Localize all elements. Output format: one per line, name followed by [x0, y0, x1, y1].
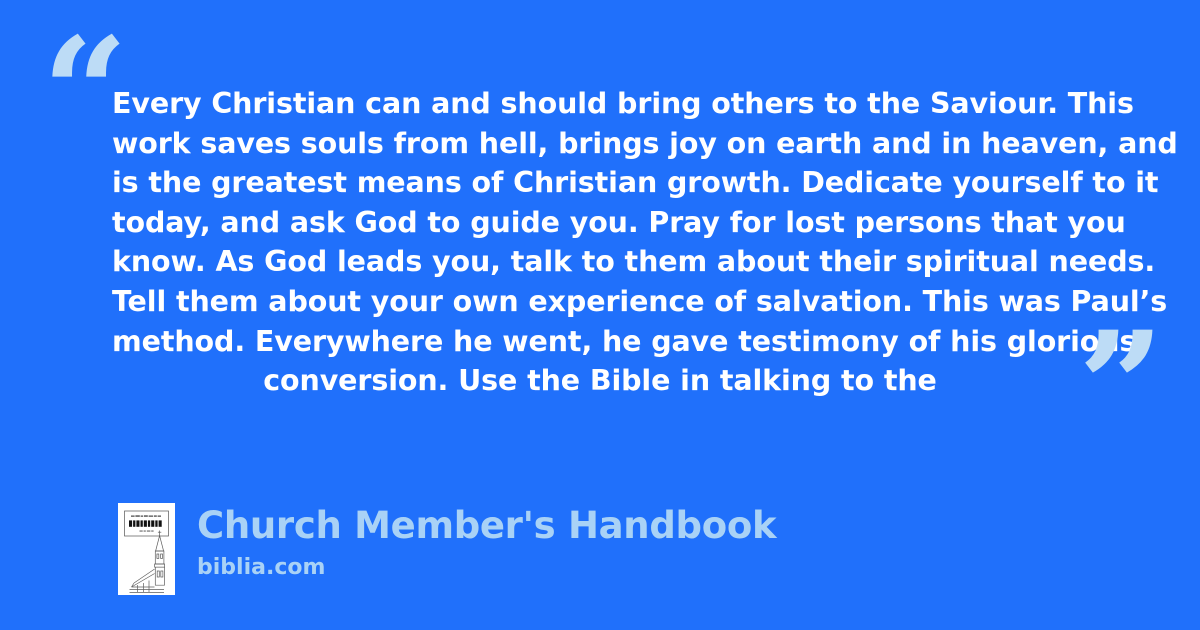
quote-line: today, and ask God to guide you. Pray fo… [112, 203, 1088, 243]
quote-card: “ Every Christian can and should bring o… [0, 0, 1200, 630]
close-quote-icon: ” [1078, 312, 1164, 462]
footer-text-group: Church Member's Handbook biblia.com [197, 503, 776, 581]
quote-line: conversion. Use the Bible in talking to … [112, 361, 1088, 401]
site-name[interactable]: biblia.com [197, 555, 776, 581]
quote-line: work saves souls from hell, brings joy o… [112, 124, 1088, 164]
quote-line: is the greatest means of Christian growt… [112, 163, 1088, 203]
book-title: Church Member's Handbook [197, 504, 776, 548]
quote-line: Every Christian can and should bring oth… [112, 84, 1088, 124]
quote-line: know. As God leads you, talk to them abo… [112, 242, 1088, 282]
quote-line: Tell them about your own experience of s… [112, 282, 1088, 322]
quote-text-block: Every Christian can and should bring oth… [112, 84, 1088, 401]
quote-line: method. Everywhere he went, he gave test… [112, 322, 1088, 362]
book-cover-thumbnail [118, 503, 175, 595]
attribution-footer: Church Member's Handbook biblia.com [118, 503, 776, 595]
